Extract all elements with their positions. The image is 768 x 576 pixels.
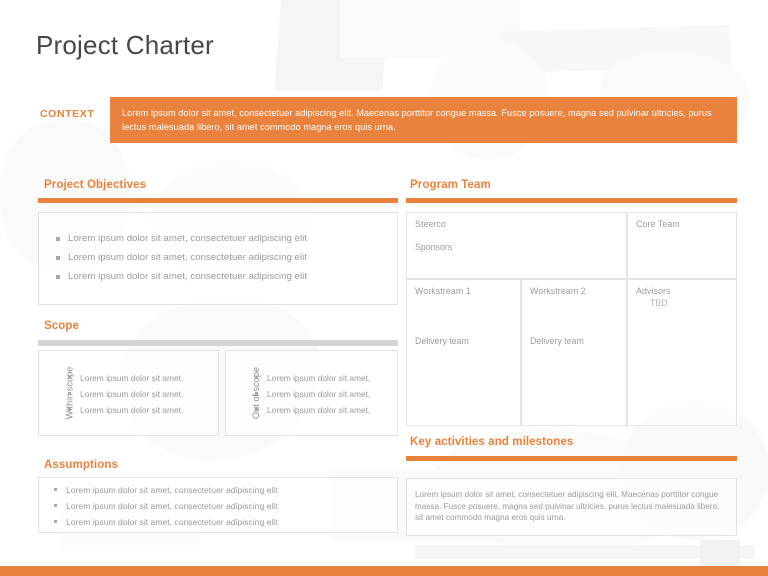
section-title-assumptions: Assumptions xyxy=(44,459,118,471)
list-item: Lorem ipsum dolor sit amet, consectetuer… xyxy=(53,485,278,495)
team-cell-label: Workstream 2 xyxy=(530,286,618,296)
list-item: Lorem ipsum dolor sit amet, xyxy=(67,373,212,383)
list-item: Lorem ipsum dolor sit amet, xyxy=(254,373,391,383)
team-cell-workstream-1: Workstream 1 Delivery team xyxy=(406,279,521,426)
team-cell-workstream-2: Workstream 2 Delivery team xyxy=(521,279,627,426)
team-cell-delivery-team: Delivery team xyxy=(530,336,584,346)
objectives-panel: Lorem ipsum dolor sit amet, consectetuer… xyxy=(38,212,398,305)
list-item: Lorem ipsum dolor sit amet, xyxy=(67,389,212,399)
slide-canvas: Project Charter CONTEXT Lorem ipsum dolo… xyxy=(0,0,768,576)
section-title-program-team: Program Team xyxy=(410,179,491,191)
list-item: Lorem ipsum dolor sit amet, consectetuer… xyxy=(53,517,278,527)
team-cell-label: Steerco xyxy=(415,219,618,229)
footer-accent-bar xyxy=(0,566,768,576)
list-item: Lorem ipsum dolor sit amet, xyxy=(254,389,391,399)
scope-out-bullet-list: Lorem ipsum dolor sit amet, Lorem ipsum … xyxy=(254,373,391,421)
team-cell-advisors: Advisors TBD xyxy=(627,279,737,426)
objectives-rule xyxy=(38,198,398,203)
context-banner: Lorem ipsum dolor sit amet, consectetuer… xyxy=(110,97,737,143)
scope-out-panel: Out of scope Lorem ipsum dolor sit amet,… xyxy=(225,350,398,436)
objectives-bullet-list: Lorem ipsum dolor sit amet, consectetuer… xyxy=(55,233,307,290)
context-label: CONTEXT xyxy=(40,108,94,120)
list-item: Lorem ipsum dolor sit amet, consectetuer… xyxy=(55,233,307,244)
team-cell-delivery-team: Delivery team xyxy=(415,336,469,346)
list-item: Lorem ipsum dolor sit amet, consectetuer… xyxy=(55,271,307,282)
assumptions-bullet-list: Lorem ipsum dolor sit amet, consectetuer… xyxy=(53,485,278,533)
list-item: Lorem ipsum dolor sit amet, xyxy=(67,405,212,415)
list-item: Lorem ipsum dolor sit amet, consectetuer… xyxy=(55,252,307,263)
program-team-rule xyxy=(406,198,737,203)
team-cell-label: Workstream 1 xyxy=(415,286,512,296)
section-title-project-objectives: Project Objectives xyxy=(44,179,146,191)
team-cell-steerco: Steerco Sponsors xyxy=(406,212,627,279)
scope-within-panel: Within scope Lorem ipsum dolor sit amet,… xyxy=(38,350,219,436)
key-activities-text: Lorem ipsum dolor sit amet, consectetuer… xyxy=(415,489,726,524)
team-cell-label: Advisors xyxy=(636,286,728,296)
list-item: Lorem ipsum dolor sit amet, xyxy=(254,405,391,415)
list-item: Lorem ipsum dolor sit amet, consectetuer… xyxy=(53,501,278,511)
team-cell-core-team: Core Team xyxy=(627,212,737,279)
team-cell-sublabel: TBD xyxy=(650,298,728,308)
scope-within-bullet-list: Lorem ipsum dolor sit amet, Lorem ipsum … xyxy=(67,373,212,421)
team-cell-sublabel: Sponsors xyxy=(415,242,618,252)
page-title: Project Charter xyxy=(36,30,214,61)
key-activities-panel: Lorem ipsum dolor sit amet, consectetuer… xyxy=(406,478,737,536)
context-text: Lorem ipsum dolor sit amet, consectetuer… xyxy=(122,106,725,134)
scope-rule xyxy=(38,340,398,346)
team-cell-label: Core Team xyxy=(636,219,728,229)
section-title-key-activities: Key activities and milestones xyxy=(410,436,573,448)
assumptions-panel: Lorem ipsum dolor sit amet, consectetuer… xyxy=(38,477,398,533)
section-title-scope: Scope xyxy=(44,320,79,332)
key-activities-rule xyxy=(406,456,737,461)
